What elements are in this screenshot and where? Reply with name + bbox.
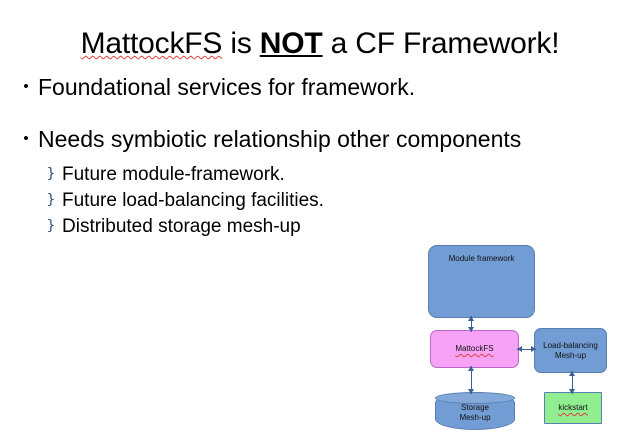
arrow-head-left-icon: [517, 346, 522, 352]
diagram-node-mattockfs: MattockFS: [430, 330, 519, 368]
diagram-node-module-framework: Module framework: [428, 245, 535, 318]
arrow-head-down-icon: [569, 389, 575, 394]
sub-bullet-list: } Future module-framework. } Future load…: [40, 162, 626, 239]
bullet-marker-icon: •: [14, 124, 38, 154]
connector-mattockfs-to-storage: [465, 366, 477, 394]
arrow-head-up-icon: [468, 366, 474, 371]
sub-list-item: } Future module-framework.: [40, 162, 626, 187]
connector-module-framework-to-mattockfs: [465, 316, 477, 332]
diagram-node-label-line2: Mesh-up: [543, 351, 598, 361]
diagram-node-load-balancing: Load-balancing Mesh-up: [534, 328, 607, 373]
bullet-list: • Foundational services for framework. •…: [14, 72, 626, 240]
diagram-node-label-line1: Storage: [461, 403, 489, 413]
list-item-label: Foundational services for framework.: [38, 72, 626, 102]
diagram-node-label-line1: Load-balancing: [543, 341, 598, 351]
sub-bullet-marker-icon: }: [40, 214, 62, 239]
diagram-node-label: Load-balancing Mesh-up: [543, 341, 598, 361]
connector-mattockfs-to-load-balancing: [517, 343, 536, 355]
list-item: • Foundational services for framework.: [14, 72, 626, 102]
title-text-tail: a CF Framework!: [323, 27, 560, 60]
title-text-is: is: [222, 27, 260, 60]
title-emphasis-not: NOT: [260, 27, 323, 60]
diagram-node-kickstart: kickstart: [544, 392, 602, 424]
arrow-head-down-icon: [468, 327, 474, 332]
sub-bullet-marker-icon: }: [40, 162, 62, 187]
arrow-head-right-icon: [531, 346, 536, 352]
diagram-node-label: kickstart: [558, 403, 587, 413]
sub-bullet-marker-icon: }: [40, 188, 62, 213]
bullet-marker-icon: •: [14, 72, 38, 102]
list-item-label: Needs symbiotic relationship other compo…: [38, 124, 626, 154]
sub-list-item-label: Future load-balancing facilities.: [62, 188, 626, 213]
sub-list-item-label: Future module-framework.: [62, 162, 626, 187]
architecture-diagram: Module framework MattockFS Load-balancin…: [405, 232, 637, 442]
diagram-node-label: Module framework: [449, 254, 515, 264]
title-word-mattockfs: MattockFS: [81, 27, 223, 60]
diagram-node-label: MattockFS: [455, 344, 493, 354]
connector-load-balancing-to-kickstart: [566, 371, 578, 394]
page-title: MattockFS is NOT a CF Framework!: [0, 26, 640, 62]
diagram-node-label-line2: Mesh-up: [459, 413, 490, 423]
arrow-head-up-icon: [569, 371, 575, 376]
list-item: • Needs symbiotic relationship other com…: [14, 124, 626, 154]
arrow-head-down-icon: [468, 389, 474, 394]
arrow-head-up-icon: [468, 316, 474, 321]
sub-list-item: } Future load-balancing facilities.: [40, 188, 626, 213]
